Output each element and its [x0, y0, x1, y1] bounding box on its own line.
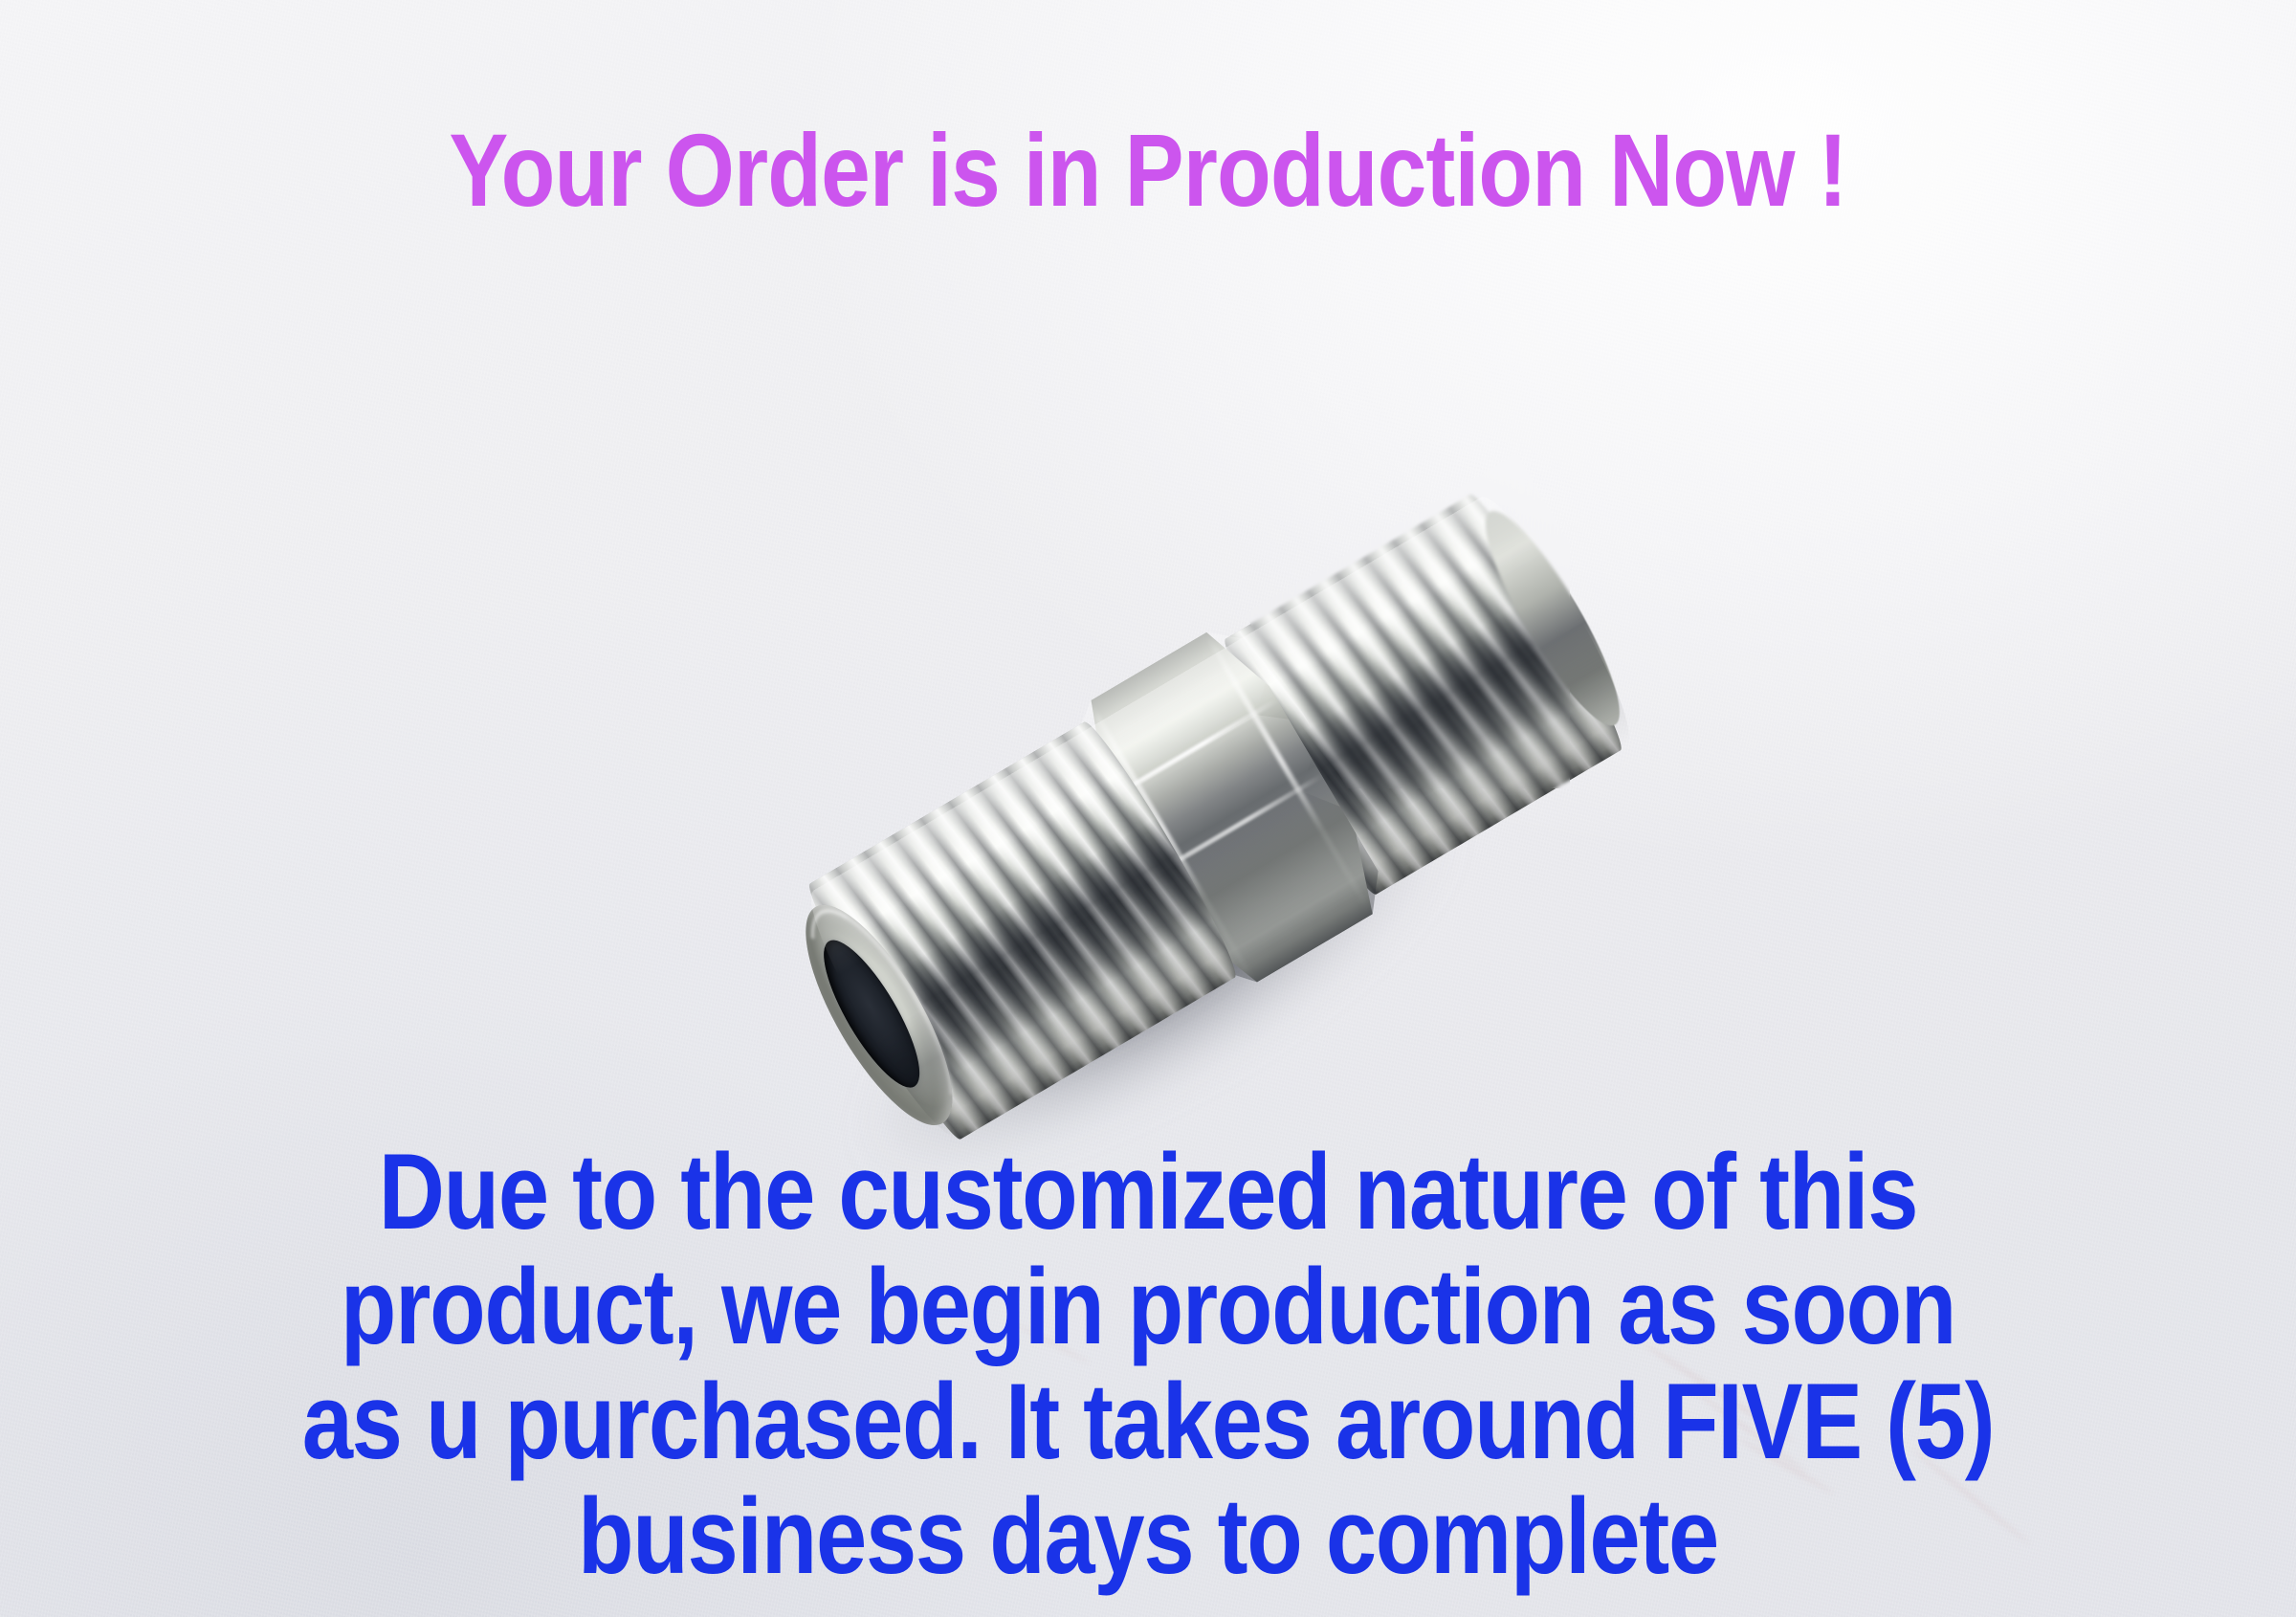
page-title: Your Order is in Production Now ! — [161, 119, 2135, 222]
product-photo-hex-nipple — [708, 478, 1665, 1186]
notice-line: as u purchased. It takes around FIVE (5) — [166, 1364, 2130, 1479]
promo-banner: Your Order is in Production Now ! Due to… — [0, 0, 2296, 1617]
production-notice: Due to the customized nature of this pro… — [166, 1135, 2130, 1594]
notice-line: Due to the customized nature of this — [166, 1135, 2130, 1250]
notice-line: product, we begin production as soon — [166, 1250, 2130, 1364]
notice-line: business days to complete — [166, 1479, 2130, 1594]
